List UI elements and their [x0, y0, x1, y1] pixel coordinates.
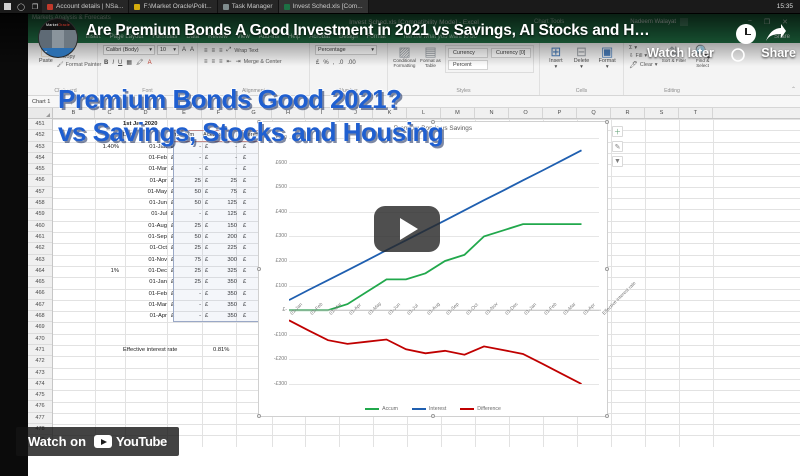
col-S[interactable]: S: [645, 108, 679, 118]
share-arrow-icon[interactable]: [764, 24, 786, 44]
legend-item[interactable]: Interest: [412, 406, 446, 412]
start-button[interactable]: [0, 0, 14, 14]
cell-date[interactable]: 01-Sep: [123, 232, 167, 243]
col-Q[interactable]: Q: [577, 108, 611, 118]
conditional-formatting-button[interactable]: ▨ Conditional Formatting: [393, 45, 416, 68]
row-header[interactable]: 469: [28, 322, 52, 333]
ribbon-group-styles: ▨ Conditional Formatting ▤ Format as Tab…: [388, 43, 540, 95]
chart-y-tick: -£200: [261, 356, 287, 362]
ribbon-group-cells: ⊞Insert▾ ⊟Delete▾ ▣Format▾ Cells: [540, 43, 624, 95]
row-header[interactable]: 474: [28, 379, 52, 390]
cell-date[interactable]: 01-Feb: [123, 289, 167, 300]
cell-date[interactable]: 01-Oct: [123, 243, 167, 254]
accounting-format-button[interactable]: £: [315, 60, 320, 66]
borders-button[interactable]: ▦: [125, 59, 133, 66]
cell-rate[interactable]: 1.40%: [89, 142, 119, 153]
align-left-button[interactable]: ≡: [203, 59, 209, 65]
format-as-table-button[interactable]: ▤ Format as Table: [420, 45, 441, 68]
select-all-corner[interactable]: [28, 108, 53, 118]
chart-y-tick: £200: [261, 258, 287, 264]
row-header[interactable]: 468: [28, 311, 52, 322]
row-header[interactable]: 453: [28, 142, 52, 153]
resize-handle[interactable]: [605, 414, 609, 418]
watch-later-label[interactable]: Watch later: [647, 46, 714, 60]
chart-y-tick: £400: [261, 209, 287, 215]
group-label-styles: Styles: [393, 88, 534, 95]
chart-object[interactable]: Premium Bonds vs Savings £700£600£500£40…: [258, 121, 608, 417]
col-C[interactable]: C: [95, 108, 125, 118]
resize-handle[interactable]: [605, 120, 609, 124]
confirm-edit-icon[interactable]: ✓: [87, 99, 92, 105]
legend-item[interactable]: Difference: [460, 406, 501, 412]
increase-decimal-button[interactable]: .0: [337, 60, 344, 66]
taskbar-item-label: Invest Sched.xls [Com...: [293, 3, 363, 10]
formula-bar: Chart 1 ✕ ✓ fx: [28, 96, 800, 108]
chart-filters-icon[interactable]: ▼: [612, 156, 623, 167]
resize-handle[interactable]: [431, 414, 435, 418]
percent-style-button[interactable]: %: [322, 60, 329, 66]
underline-button[interactable]: U: [117, 60, 123, 66]
decrease-indent-button[interactable]: ⇤: [226, 58, 233, 65]
cell-date[interactable]: 01-Feb: [123, 153, 167, 164]
row-header[interactable]: 465: [28, 277, 52, 288]
group-label-editing: Editing: [629, 88, 715, 95]
taskbar-item-explorer[interactable]: F:\Market Oracle\Polit...: [129, 0, 217, 13]
chevron-down-icon: ▾: [149, 47, 152, 53]
cell-date[interactable]: 01-Apr: [123, 311, 167, 322]
legend-swatch: [412, 408, 426, 411]
col-K[interactable]: K: [373, 108, 407, 118]
legend-swatch: [365, 408, 379, 411]
paste-label: Paste: [39, 58, 53, 64]
row-header[interactable]: 473: [28, 368, 52, 379]
chart-y-tick: £100: [261, 283, 287, 289]
cell-date[interactable]: 01-Nov: [123, 255, 167, 266]
legend-label: Interest: [429, 406, 446, 412]
chart-y-tick: £700: [261, 135, 287, 141]
video-title[interactable]: Are Premium Bonds A Good Investment in 2…: [86, 22, 671, 40]
chart-styles-icon[interactable]: ✎: [612, 141, 623, 152]
group-label-number: Number: [315, 88, 382, 95]
youtube-top-controls: [736, 24, 786, 44]
row-header[interactable]: 470: [28, 334, 52, 345]
cell-date[interactable]: 01-Apr: [123, 176, 167, 187]
align-right-button[interactable]: ≡: [218, 59, 224, 65]
cell-style-currency[interactable]: Currency: [448, 48, 488, 58]
chart-plot-area: £700£600£500£400£300£200£100£--£100-£200…: [289, 138, 599, 382]
chart-y-tick: -£100: [261, 332, 287, 338]
col-M[interactable]: M: [441, 108, 475, 118]
col-B[interactable]: B: [53, 108, 95, 118]
group-label-alignment: Alignment: [203, 88, 304, 95]
cell-area[interactable]: 1st Jan 2020DatePremiumAccumInterestDiff…: [53, 119, 800, 447]
cell-footer-value[interactable]: 0.81%: [213, 345, 253, 356]
row-header[interactable]: 459: [28, 209, 52, 220]
format-painter-button[interactable]: 🖌Format Painter: [57, 62, 102, 68]
align-top-button[interactable]: ≡: [203, 48, 209, 54]
row-header[interactable]: 475: [28, 390, 52, 401]
comma-style-button[interactable]: ,: [332, 60, 336, 66]
fill-color-button[interactable]: 🖍: [135, 59, 145, 66]
chart-y-tick: £600: [261, 160, 287, 166]
cell-footer-label[interactable]: Effective interest rate: [123, 345, 213, 356]
row-header[interactable]: 467: [28, 300, 52, 311]
chart-y-tick: £-: [261, 307, 287, 313]
eraser-icon: 🖊: [629, 61, 638, 69]
taskbar-item-browser[interactable]: Account details | NSa...: [42, 0, 129, 13]
qat-label: Markets Analysis & Forecasts: [32, 15, 111, 21]
italic-button[interactable]: I: [111, 60, 115, 66]
increase-indent-button[interactable]: ⇥: [235, 58, 242, 65]
ribbon-group-number: Percentage▾ £ % , .0 .00 Number: [310, 43, 388, 95]
watch-on-label: Watch on: [28, 434, 86, 449]
align-middle-button[interactable]: ≡: [211, 48, 217, 54]
group-label-cells: Cells: [545, 88, 618, 95]
youtube-wordmark: YouTube: [116, 434, 167, 449]
legend-label: Difference: [477, 406, 501, 412]
cell-date[interactable]: 01-Jan: [123, 142, 167, 153]
row-header[interactable]: 464: [28, 266, 52, 277]
ribbon-group-font: Calibri (Body)▾ 10▾ A A B I U ▦ 🖍: [98, 43, 198, 95]
column-header-row: B C D E F G H I J K L M N O P Q R S T: [28, 108, 800, 119]
chart-y-tick: £300: [261, 233, 287, 239]
chart-legend: AccumInterestDifference: [259, 406, 607, 412]
col-E[interactable]: E: [167, 108, 202, 118]
cell-date[interactable]: 01-Mar: [123, 300, 167, 311]
decrease-decimal-button[interactable]: .00: [346, 60, 356, 66]
chart-series-svg: [289, 138, 601, 384]
shrink-font-button[interactable]: A: [189, 47, 195, 53]
legend-swatch: [460, 408, 474, 411]
cell-date[interactable]: 01-Dec: [123, 266, 167, 277]
avatar[interactable]: [680, 18, 688, 26]
group-label-clipboard: Clipboard: [39, 88, 92, 95]
font-family-select[interactable]: Calibri (Body)▾: [103, 45, 155, 55]
quick-access-toolbar[interactable]: Markets Analysis & Forecasts: [32, 15, 111, 21]
play-button[interactable]: [374, 206, 440, 252]
cell-style-percent[interactable]: Percent: [448, 60, 488, 70]
legend-label: Accum: [382, 406, 398, 412]
number-format-select[interactable]: Percentage▾: [315, 45, 377, 55]
ribbon-group-alignment: ≡ ≡ ≡ ⤢ Wrap Text ≡ ≡ ≡ ⇤ ⇥ Merge & Cent…: [198, 43, 310, 95]
search-icon[interactable]: ◯: [14, 0, 28, 14]
task-view-icon[interactable]: ❐: [28, 0, 42, 14]
col-R[interactable]: R: [611, 108, 645, 118]
chart-y-tick: -£300: [261, 381, 287, 387]
col-I[interactable]: I: [305, 108, 339, 118]
legend-item[interactable]: Accum: [365, 406, 398, 412]
chart-gridline: [289, 384, 599, 385]
youtube-play-icon: [94, 435, 112, 448]
chart-elements-icon[interactable]: ＋: [612, 126, 623, 137]
row-header[interactable]: 454: [28, 153, 52, 164]
taskbar-item-task-manager[interactable]: Task Manager: [218, 0, 279, 13]
channel-avatar[interactable]: MarketOracle K: [38, 18, 78, 58]
row-header[interactable]: 476: [28, 401, 52, 412]
col-D[interactable]: D: [125, 108, 167, 118]
col-G[interactable]: G: [236, 108, 272, 118]
align-center-button[interactable]: ≡: [211, 59, 217, 65]
sigma-icon: Σ: [629, 45, 632, 51]
row-header[interactable]: 477: [28, 413, 52, 424]
row-header[interactable]: 452: [28, 130, 52, 141]
resize-handle[interactable]: [257, 414, 261, 418]
row-header[interactable]: 472: [28, 356, 52, 367]
chevron-down-icon: ▾: [371, 47, 374, 53]
col-J[interactable]: J: [339, 108, 373, 118]
row-header[interactable]: 458: [28, 198, 52, 209]
resize-handle[interactable]: [257, 120, 261, 124]
wrap-text-button[interactable]: Wrap Text: [234, 48, 258, 54]
col-H[interactable]: H: [272, 108, 305, 118]
row-header[interactable]: 462: [28, 243, 52, 254]
orientation-button[interactable]: ⤢: [226, 47, 233, 54]
row-header[interactable]: 463: [28, 255, 52, 266]
fill-icon: ⇩: [629, 53, 634, 59]
spreadsheet-grid: B C D E F G H I J K L M N O P Q R S T: [28, 108, 800, 476]
chevron-down-icon: ▾: [554, 64, 557, 70]
cell-rate[interactable]: 1%: [89, 266, 119, 277]
format-cells-button[interactable]: ▣Format▾: [596, 45, 618, 70]
chart-series-difference: [289, 320, 582, 384]
taskbar-item-excel[interactable]: Invest Sched.xls [Com...: [279, 0, 369, 13]
collapse-ribbon-button[interactable]: ⌃: [791, 86, 796, 93]
row-header[interactable]: 466: [28, 288, 52, 299]
row-header[interactable]: 455: [28, 164, 52, 175]
share-icon[interactable]: [730, 47, 746, 63]
resize-handle[interactable]: [605, 267, 609, 271]
col-P[interactable]: P: [543, 108, 577, 118]
cancel-edit-icon[interactable]: ✕: [77, 99, 82, 105]
row-header[interactable]: 460: [28, 221, 52, 232]
cell-date[interactable]: 01-Jan: [123, 277, 167, 288]
watch-on-youtube-badge[interactable]: Watch on YouTube: [16, 427, 179, 456]
chevron-down-icon: ▾: [606, 64, 609, 70]
col-O[interactable]: O: [509, 108, 543, 118]
merge-center-button[interactable]: Merge & Center: [244, 59, 282, 65]
cell-date[interactable]: 01-May: [123, 187, 167, 198]
cell-style-currency-0[interactable]: Currency [0]: [491, 48, 531, 58]
chevron-down-icon: ▾: [173, 47, 176, 53]
cell-date[interactable]: 01-Jul: [123, 209, 167, 220]
col-T[interactable]: T: [679, 108, 713, 118]
font-color-button[interactable]: A: [147, 60, 153, 66]
taskbar-item-label: Task Manager: [232, 3, 273, 10]
col-F[interactable]: F: [202, 108, 236, 118]
resize-handle[interactable]: [257, 267, 261, 271]
grow-font-button[interactable]: A: [181, 47, 187, 53]
row-header[interactable]: 451: [28, 119, 52, 130]
watch-later-icon[interactable]: [736, 24, 756, 44]
taskbar-item-label: F:\Market Oracle\Polit...: [143, 3, 211, 10]
group-label-font: Font: [103, 88, 192, 95]
insert-function-icon[interactable]: fx: [96, 99, 100, 105]
col-L[interactable]: L: [407, 108, 441, 118]
taskbar-item-label: Account details | NSa...: [56, 3, 123, 10]
cell-date[interactable]: 01-Aug: [123, 221, 167, 232]
windows-taskbar: ◯ ❐ Account details | NSa... F:\Market O…: [0, 0, 800, 14]
row-header[interactable]: 457: [28, 187, 52, 198]
delete-cells-button[interactable]: ⊟Delete▾: [571, 45, 593, 70]
resize-handle[interactable]: [431, 120, 435, 124]
col-N[interactable]: N: [475, 108, 509, 118]
cell-date[interactable]: 01-Mar: [123, 164, 167, 175]
cell-caption[interactable]: 1st Jan 2020: [123, 119, 183, 130]
insert-cells-button[interactable]: ⊞Insert▾: [545, 45, 567, 70]
share-label[interactable]: Share: [761, 46, 796, 60]
taskbar-clock: 15:35: [777, 3, 800, 10]
row-header[interactable]: 456: [28, 175, 52, 186]
font-size-select[interactable]: 10▾: [157, 45, 179, 55]
screenshot-root: ◯ ❐ Account details | NSa... F:\Market O…: [0, 0, 800, 476]
row-header-column: 4514524534544554564574584594604614624634…: [28, 119, 53, 447]
row-header[interactable]: 461: [28, 232, 52, 243]
table-header-cell[interactable]: Date: [123, 130, 167, 141]
cell-date[interactable]: 01-Jun: [123, 198, 167, 209]
name-box[interactable]: Chart 1: [28, 99, 72, 105]
brush-icon: 🖌: [57, 62, 64, 68]
chevron-down-icon: ▾: [580, 64, 583, 70]
clear-button[interactable]: 🖊Clear▾: [629, 61, 658, 69]
row-header[interactable]: 471: [28, 345, 52, 356]
chart-y-tick: £500: [261, 184, 287, 190]
desktop-background: [0, 14, 28, 476]
align-bottom-button[interactable]: ≡: [218, 48, 224, 54]
bold-button[interactable]: B: [103, 60, 109, 66]
